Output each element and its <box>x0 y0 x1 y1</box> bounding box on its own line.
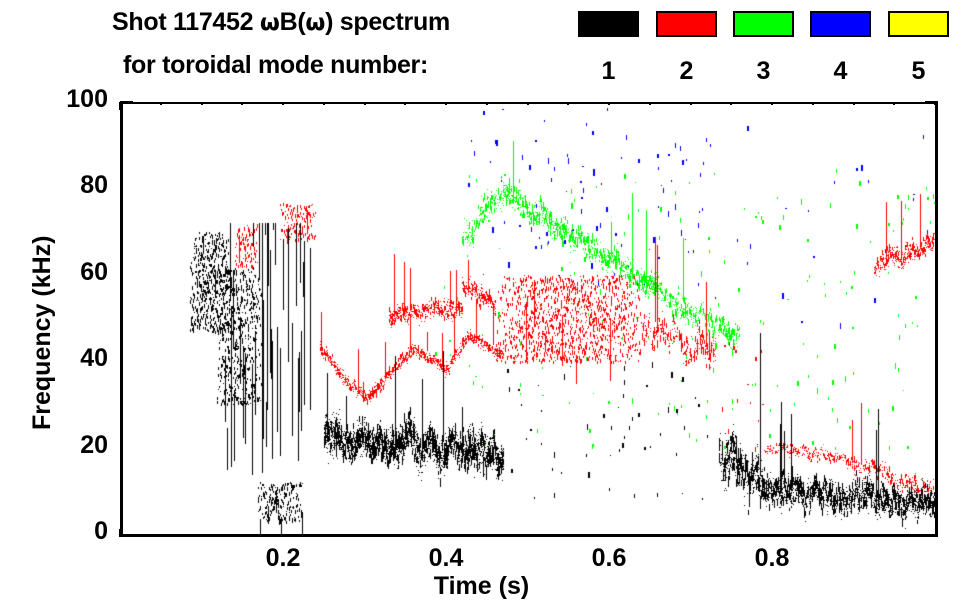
legend-swatch-2 <box>656 11 717 37</box>
x-tick-label: 0.2 <box>243 544 323 573</box>
legend-swatch-1 <box>578 11 639 37</box>
spectrogram-canvas <box>123 105 935 534</box>
title-text-post: ) spectrum <box>325 8 450 36</box>
x-tick-label: 0.8 <box>732 544 812 573</box>
page-title: Shot 117452 ωB(ω) spectrum <box>112 8 450 37</box>
y-tick-label: 20 <box>38 431 108 460</box>
omega-symbol-1: ω <box>260 10 280 36</box>
x-tick-top <box>119 102 121 110</box>
spectrogram-figure: Shot 117452 ωB(ω) spectrum for toroidal … <box>0 0 963 615</box>
y-tick-right <box>925 101 938 103</box>
legend-label-4: 4 <box>810 57 871 86</box>
legend-label-3: 3 <box>733 57 794 86</box>
y-tick-label: 0 <box>38 517 108 546</box>
title-text-mid: B( <box>280 8 306 36</box>
x-tick <box>119 529 121 537</box>
y-tick-label: 100 <box>38 85 108 114</box>
x-tick-label: 0.6 <box>569 544 649 573</box>
y-tick-label: 80 <box>38 171 108 200</box>
page-subtitle: for toroidal mode number: <box>123 51 428 80</box>
y-axis-title: Frequency (kHz) <box>28 236 57 430</box>
legend-label-5: 5 <box>888 57 949 86</box>
plot-area <box>123 105 935 534</box>
legend-swatch-3 <box>733 11 794 37</box>
title-text-pre: Shot 117452 <box>112 8 260 36</box>
legend-swatch-5 <box>888 11 949 37</box>
x-axis-title: Time (s) <box>0 572 963 601</box>
y-tick <box>120 101 133 103</box>
legend-label-2: 2 <box>656 57 717 86</box>
legend: 12345 <box>578 11 958 83</box>
omega-symbol-2: ω <box>305 10 325 36</box>
x-tick-label: 0.4 <box>406 544 486 573</box>
legend-label-1: 1 <box>578 57 639 86</box>
legend-swatch-4 <box>810 11 871 37</box>
